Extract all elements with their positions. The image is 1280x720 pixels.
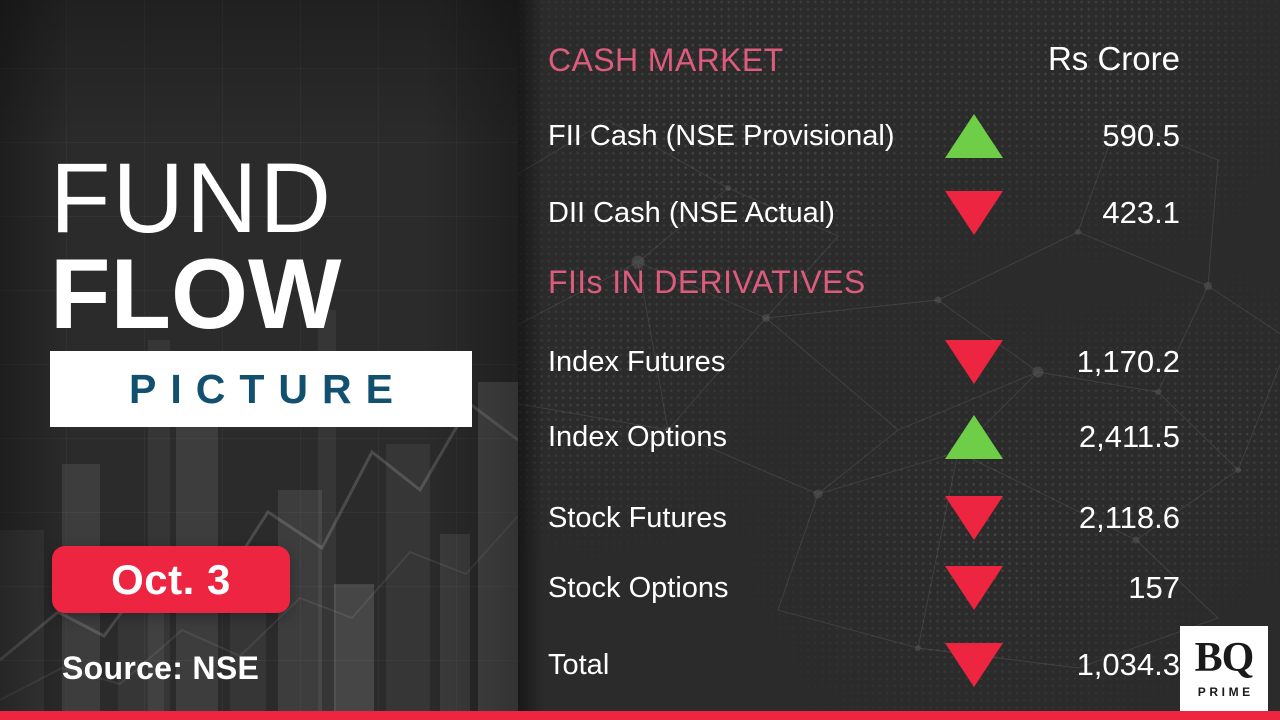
source-label: Source: NSE (62, 650, 259, 687)
table-row: Stock Futures 2,118.6 (518, 495, 1280, 541)
row-label: DII Cash (NSE Actual) (548, 197, 835, 230)
date-badge-label: Oct. 3 (85, 556, 257, 604)
title-word-flow: FLOW (50, 245, 480, 342)
direction-down-icon (943, 566, 1005, 610)
infographic-canvas: FUND FLOW PICTURE Oct. 3 Source: NSE (0, 0, 1280, 720)
table-row: Stock Options 157 (518, 565, 1280, 611)
row-value: 157 (998, 570, 1180, 606)
title-block: FUND FLOW PICTURE (50, 152, 480, 427)
date-badge: Oct. 3 (52, 546, 290, 613)
row-label: Total (548, 649, 609, 682)
left-branding-panel: FUND FLOW PICTURE Oct. 3 Source: NSE (0, 0, 518, 720)
footer-accent-bar (0, 711, 1280, 720)
title-word-picture: PICTURE (115, 366, 407, 413)
bq-prime-logo: BQ PRIME (1180, 626, 1268, 712)
row-value: 1,170.2 (998, 344, 1180, 380)
direction-up-icon (943, 415, 1005, 459)
logo-mark-text: BQ (1195, 639, 1254, 678)
table-row: FII Cash (NSE Provisional) 590.5 (518, 113, 1280, 159)
table-row: Index Futures 1,170.2 (518, 339, 1280, 385)
row-label: Stock Options (548, 572, 729, 605)
direction-down-icon (943, 191, 1005, 235)
title-word-fund: FUND (50, 152, 480, 243)
table-row: Total 1,034.3 (518, 642, 1280, 688)
section-heading-cash-market: CASH MARKET (548, 42, 784, 79)
row-value: 2,118.6 (998, 500, 1180, 536)
direction-down-icon (943, 340, 1005, 384)
row-value: 590.5 (998, 118, 1180, 154)
row-label: Index Options (548, 421, 727, 454)
row-label: Index Futures (548, 346, 725, 379)
direction-down-icon (943, 643, 1005, 687)
row-label: Stock Futures (548, 502, 727, 535)
data-panel: CASH MARKET Rs Crore FII Cash (NSE Provi… (518, 0, 1280, 720)
logo-wordmark-text: PRIME (1194, 685, 1254, 699)
row-value: 2,411.5 (998, 419, 1180, 455)
table-row: DII Cash (NSE Actual) 423.1 (518, 190, 1280, 236)
direction-down-icon (943, 496, 1005, 540)
table-row: Index Options 2,411.5 (518, 414, 1280, 460)
section-heading-derivatives: FIIs IN DERIVATIVES (548, 264, 866, 301)
row-value: 423.1 (998, 195, 1180, 231)
title-picture-box: PICTURE (50, 351, 472, 427)
direction-up-icon (943, 114, 1005, 158)
row-value: 1,034.3 (998, 647, 1180, 683)
row-label: FII Cash (NSE Provisional) (548, 120, 895, 153)
unit-header: Rs Crore (998, 40, 1180, 78)
